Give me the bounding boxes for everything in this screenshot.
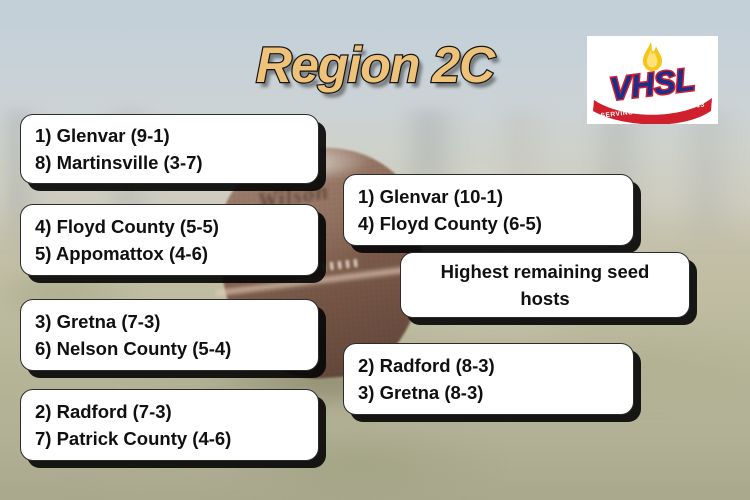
bracket-box-round1-game2[interactable]: 4) Floyd County (5-5) 5) Appomattox (4-6… bbox=[20, 204, 319, 276]
matchup-line: 1) Glenvar (10-1) bbox=[358, 183, 619, 210]
matchup-line: 2) Radford (7-3) bbox=[35, 398, 304, 425]
vhsl-logo: SERVING YOUTH SINCE 1913 VHSL bbox=[587, 36, 718, 124]
bracket-box-round1-game4[interactable]: 2) Radford (7-3) 7) Patrick County (4-6) bbox=[20, 389, 319, 461]
slide-canvas: Wilson Region 2C SERVING YOUTH SINCE 191… bbox=[0, 0, 750, 500]
matchup-line: 7) Patrick County (4-6) bbox=[35, 425, 304, 452]
note-line: hosts bbox=[520, 285, 569, 312]
matchup-line: 1) Glenvar (9-1) bbox=[35, 122, 304, 149]
matchup-line: 2) Radford (8-3) bbox=[358, 352, 619, 379]
matchup-line: 3) Gretna (7-3) bbox=[35, 308, 304, 335]
matchup-line: 4) Floyd County (5-5) bbox=[35, 213, 304, 240]
bracket-box-round2-game1[interactable]: 1) Glenvar (10-1) 4) Floyd County (6-5) bbox=[343, 174, 634, 246]
bracket-box-round2-game2[interactable]: 2) Radford (8-3) 3) Gretna (8-3) bbox=[343, 343, 634, 415]
matchup-line: 4) Floyd County (6-5) bbox=[358, 210, 619, 237]
bracket-note-box: Highest remaining seed hosts bbox=[400, 252, 690, 318]
note-line: Highest remaining seed bbox=[441, 258, 650, 285]
bracket-box-round1-game3[interactable]: 3) Gretna (7-3) 6) Nelson County (5-4) bbox=[20, 299, 319, 371]
matchup-line: 5) Appomattox (4-6) bbox=[35, 240, 304, 267]
bracket-box-round1-game1[interactable]: 1) Glenvar (9-1) 8) Martinsville (3-7) bbox=[20, 114, 319, 184]
matchup-line: 6) Nelson County (5-4) bbox=[35, 335, 304, 362]
matchup-line: 8) Martinsville (3-7) bbox=[35, 149, 304, 176]
matchup-line: 3) Gretna (8-3) bbox=[358, 379, 619, 406]
